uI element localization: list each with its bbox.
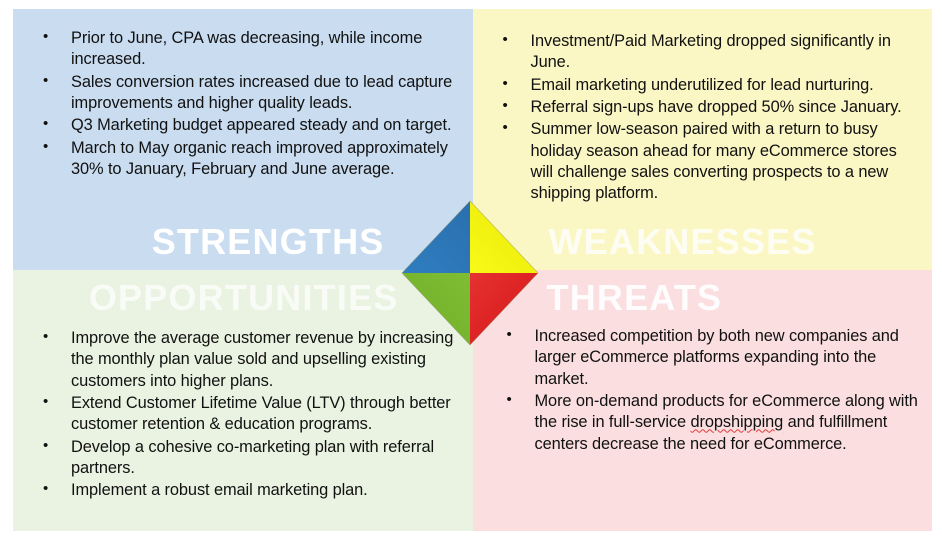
threats-bullet-list: Increased competition by both new compan… xyxy=(489,326,923,456)
quadrant-threats: THREATS Increased competition by both ne… xyxy=(473,270,933,531)
list-item: Improve the average customer revenue by … xyxy=(25,328,461,392)
swot-matrix: Prior to June, CPA was decreasing, while… xyxy=(13,9,932,531)
quadrant-title-strengths: STRENGTHS xyxy=(152,224,385,260)
list-item: Q3 Marketing budget appeared steady and … xyxy=(25,115,455,136)
list-item: More on-demand products for eCommerce al… xyxy=(489,391,923,455)
list-item: Summer low-season paired with a return t… xyxy=(489,119,919,204)
opportunities-bullet-list: Improve the average customer revenue by … xyxy=(25,328,461,503)
quadrant-strengths: Prior to June, CPA was decreasing, while… xyxy=(13,9,473,270)
quadrant-title-threats: THREATS xyxy=(547,280,723,316)
list-item: Extend Customer Lifetime Value (LTV) thr… xyxy=(25,393,461,436)
strengths-bullet-list: Prior to June, CPA was decreasing, while… xyxy=(25,28,455,181)
list-item: Prior to June, CPA was decreasing, while… xyxy=(25,28,455,71)
list-item: Increased competition by both new compan… xyxy=(489,326,923,390)
list-item: Sales conversion rates increased due to … xyxy=(25,72,455,115)
quadrant-opportunities: OPPORTUNITIES Improve the average custom… xyxy=(13,270,473,531)
quadrant-title-weaknesses: WEAKNESSES xyxy=(549,224,817,260)
list-item: Develop a cohesive co-marketing plan wit… xyxy=(25,437,461,480)
list-item: Investment/Paid Marketing dropped signif… xyxy=(489,31,919,74)
list-item: Implement a robust email marketing plan. xyxy=(25,480,461,501)
list-item: Email marketing underutilized for lead n… xyxy=(489,75,919,96)
list-item: Referral sign-ups have dropped 50% since… xyxy=(489,97,919,118)
quadrant-weaknesses: Investment/Paid Marketing dropped signif… xyxy=(473,9,933,270)
list-item: March to May organic reach improved appr… xyxy=(25,138,455,181)
weaknesses-bullet-list: Investment/Paid Marketing dropped signif… xyxy=(489,31,919,206)
misspelled-word: dropshipping xyxy=(691,413,784,431)
quadrant-title-opportunities: OPPORTUNITIES xyxy=(89,280,399,316)
